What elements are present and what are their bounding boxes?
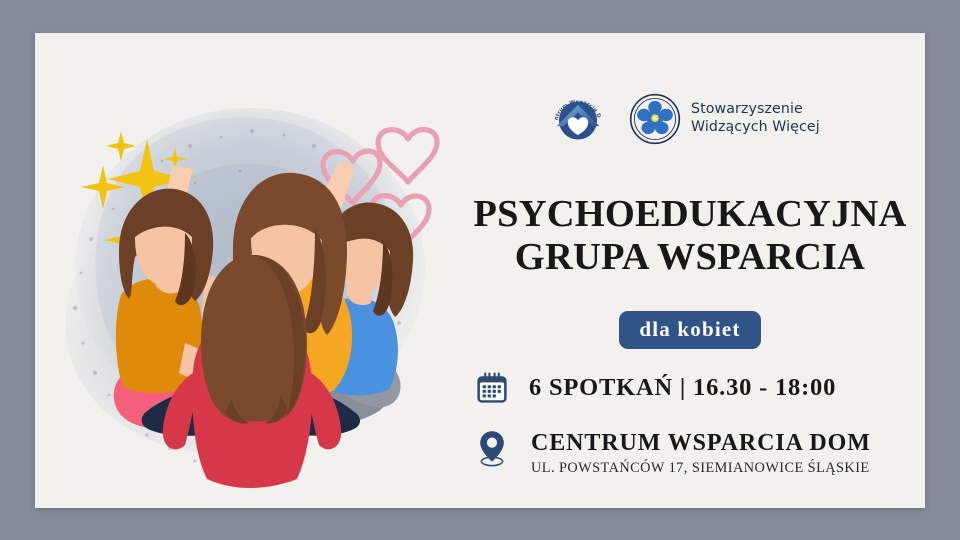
calendar-icon [475, 371, 509, 405]
poster-root: Centrum Wsparcia DOM [0, 0, 960, 540]
logo2-line2: Widzących Więcej [691, 119, 820, 136]
date-text: 6 SPOTKAŃ | 16.30 - 18:00 [529, 374, 836, 402]
place-text-block: CENTRUM WSPARCIA DOM UL. POWSTAŃCÓW 17, … [531, 431, 871, 477]
poster-card: Centrum Wsparcia DOM [35, 33, 925, 508]
place-address: UL. POWSTAŃCÓW 17, SIEMIANOWICE ŚLĄSKIE [531, 460, 871, 477]
logo2-text: Stowarzyszenie Widzących Więcej [691, 101, 820, 136]
poster-content: Centrum Wsparcia DOM [455, 33, 925, 508]
date-info-row: 6 SPOTKAŃ | 16.30 - 18:00 [475, 371, 836, 405]
women-support-circle-illustration [35, 43, 465, 503]
stowarzyszenie-widzacych-wiecej-logo: Stowarzyszenie Widzących Więcej [628, 92, 820, 146]
badge-wrapper: dla kobiet [455, 311, 925, 349]
centrum-wsparcia-dom-logo: Centrum Wsparcia DOM [550, 88, 606, 149]
map-pin-icon [475, 429, 509, 467]
status-badge: dla kobiet [619, 311, 760, 349]
place-info-row: CENTRUM WSPARCIA DOM UL. POWSTAŃCÓW 17, … [475, 429, 871, 477]
place-name: CENTRUM WSPARCIA DOM [531, 431, 871, 456]
logo2-line1: Stowarzyszenie [691, 101, 820, 118]
headline-line-2: GRUPA WSPARCIA [455, 236, 925, 279]
logo-row: Centrum Wsparcia DOM [550, 88, 820, 149]
headline-line-1: PSYCHOEDUKACYJNA [473, 193, 906, 235]
page-title: PSYCHOEDUKACYJNA GRUPA WSPARCIA [455, 193, 925, 279]
